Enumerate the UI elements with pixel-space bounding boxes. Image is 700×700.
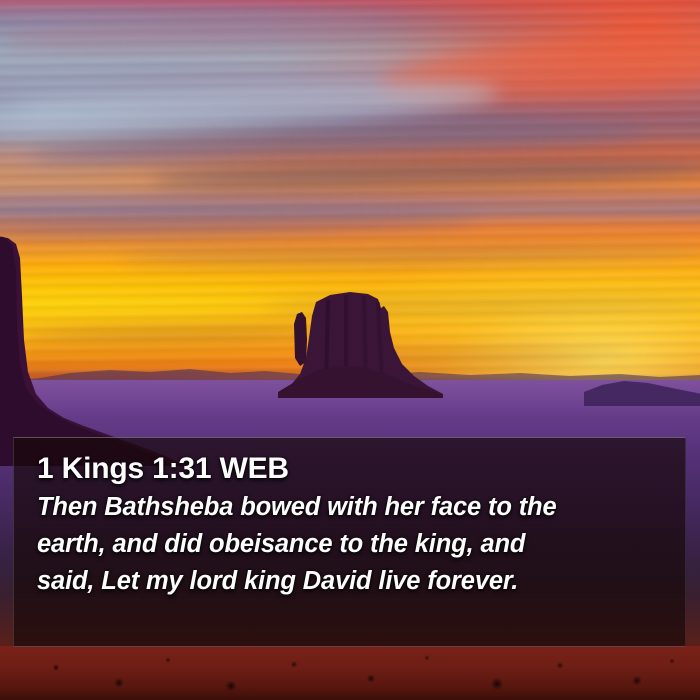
verse-text-line: said, Let my lord king David live foreve…: [37, 563, 667, 600]
foreground-rock: [0, 646, 700, 700]
verse-image: 1 Kings 1:31 WEB Then Bathsheba bowed wi…: [0, 0, 700, 700]
left-mesa-silhouette: [0, 236, 184, 466]
verse-text-line: Then Bathsheba bowed with her face to th…: [37, 489, 667, 526]
mitten-butte-silhouette: [278, 288, 443, 398]
verse-reference: 1 Kings 1:31 WEB: [37, 452, 667, 485]
verse-text-line: earth, and did obeisance to the king, an…: [37, 526, 667, 563]
verse-text: Then Bathsheba bowed with her face to th…: [37, 489, 667, 600]
verse-overlay-card: 1 Kings 1:31 WEB Then Bathsheba bowed wi…: [13, 437, 686, 647]
right-ridge-silhouette: [584, 372, 700, 406]
